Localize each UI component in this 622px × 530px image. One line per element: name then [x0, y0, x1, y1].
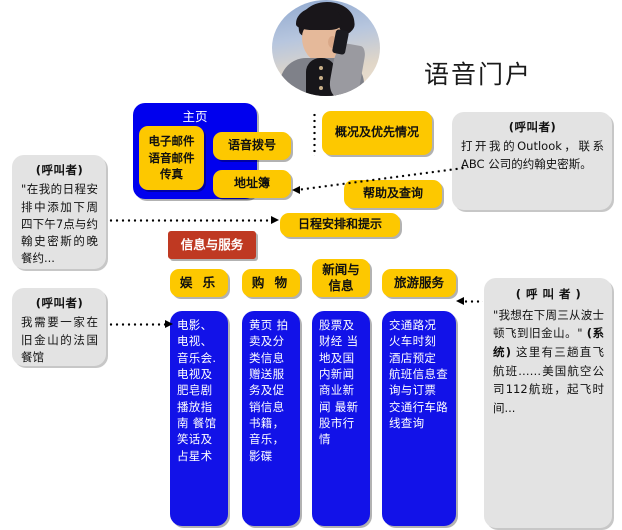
list-item: 黄页	[249, 318, 273, 332]
connector-overview-vertical	[313, 112, 316, 156]
node-info-and-services[interactable]: 信息与服务	[168, 231, 256, 259]
list-item: 餐馆	[193, 416, 217, 430]
callout-caller-flight: ( 呼 叫 者 ) "我想在下周三从波士顿飞到旧金山。" (系统) 这里有三趟直…	[484, 278, 612, 528]
column-news-items[interactable]: 股票及财经 当地及国内新闻 商业新闻 最新股市行情	[312, 311, 370, 526]
node-schedule-reminders[interactable]: 日程安排和提示	[280, 213, 400, 237]
photo-hair-front	[296, 6, 342, 30]
list-item: 书籍，音乐，影碟	[249, 416, 284, 463]
callout-speaker: (呼叫者)	[461, 119, 604, 136]
connector-schedule	[108, 219, 272, 222]
node-email-line-1: 电子邮件	[149, 133, 195, 150]
connector-restaurant	[108, 323, 166, 326]
node-address-book[interactable]: 地址簿	[213, 170, 291, 198]
node-voice-dial[interactable]: 语音拨号	[213, 132, 291, 160]
home-panel-label: 主页	[133, 106, 257, 124]
callout-text: 我需要一家在旧金山的法国餐馆	[21, 314, 98, 366]
list-item: 交通行车路线查询	[389, 400, 448, 430]
diagram-canvas: 语音门户 主页 电子邮件 语音邮件 传真 语音拨号 地址簿 概况及优先情况 帮助…	[0, 0, 622, 530]
list-item: 交通路况	[389, 318, 436, 332]
arrow-head-right	[271, 216, 279, 224]
arrow-head-left	[456, 297, 464, 305]
column-travel-items[interactable]: 交通路况 火车时刻 酒店预定 航班信息查询与订票 交通行车路线查询	[382, 311, 456, 526]
node-email-line-3: 传真	[160, 166, 183, 183]
list-item: 赠送服务及促销信息	[249, 367, 284, 414]
list-item: 电影、电视、音乐会.	[177, 318, 216, 365]
tab-entertainment[interactable]: 娱 乐	[170, 269, 228, 297]
tab-travel-services[interactable]: 旅游服务	[382, 269, 456, 297]
tab-news-line-2: 信息	[328, 278, 353, 294]
list-item: 火车时刻	[389, 334, 436, 348]
arrow-head-left	[292, 186, 300, 194]
column-entertainment-items[interactable]: 电影、电视、音乐会. 电视及肥皂剧播放指南 餐馆 笑话及占星术	[170, 311, 228, 526]
callout-speaker: (呼叫者)	[21, 162, 98, 179]
page-title: 语音门户	[424, 55, 532, 91]
node-email-group[interactable]: 电子邮件 语音邮件 传真	[139, 126, 204, 190]
callout-text: 打开我的Outlook，联系 ABC 公司的约翰史密斯。	[461, 138, 604, 173]
callout-speaker: ( 呼 叫 者 )	[493, 285, 604, 304]
tab-news-line-1: 新闻与	[322, 262, 360, 278]
callout-speaker: (呼叫者)	[21, 295, 98, 312]
tab-news-and-info[interactable]: 新闻与 信息	[312, 259, 370, 297]
callout-caller-schedule: (呼叫者) "在我的日程安排中添加下周四下午7点与约翰史密斯的晚餐约...	[12, 155, 106, 269]
node-email-line-2: 语音邮件	[149, 150, 195, 167]
list-item: 酒店预定	[389, 351, 436, 365]
photo-shirt-buttons	[319, 66, 323, 96]
list-item: 笑话及占星术	[177, 432, 212, 462]
man-on-phone-photo	[272, 0, 380, 96]
column-shopping-items[interactable]: 黄页 拍卖及分类信息 赠送服务及促销信息 书籍，音乐，影碟	[242, 311, 300, 526]
list-item: 航班信息查询与订票	[389, 367, 448, 397]
tab-shopping[interactable]: 购 物	[242, 269, 300, 297]
arrow-head-right	[165, 320, 173, 328]
callout-caller-outlook: (呼叫者) 打开我的Outlook，联系 ABC 公司的约翰史密斯。	[452, 112, 612, 210]
node-help-query[interactable]: 帮助及查询	[344, 180, 442, 208]
callout-caller-restaurant: (呼叫者) 我需要一家在旧金山的法国餐馆	[12, 288, 106, 366]
node-overview-priority[interactable]: 概况及优先情况	[322, 111, 432, 155]
callout-text: "在我的日程安排中添加下周四下午7点与约翰史密斯的晚餐约...	[21, 181, 98, 267]
